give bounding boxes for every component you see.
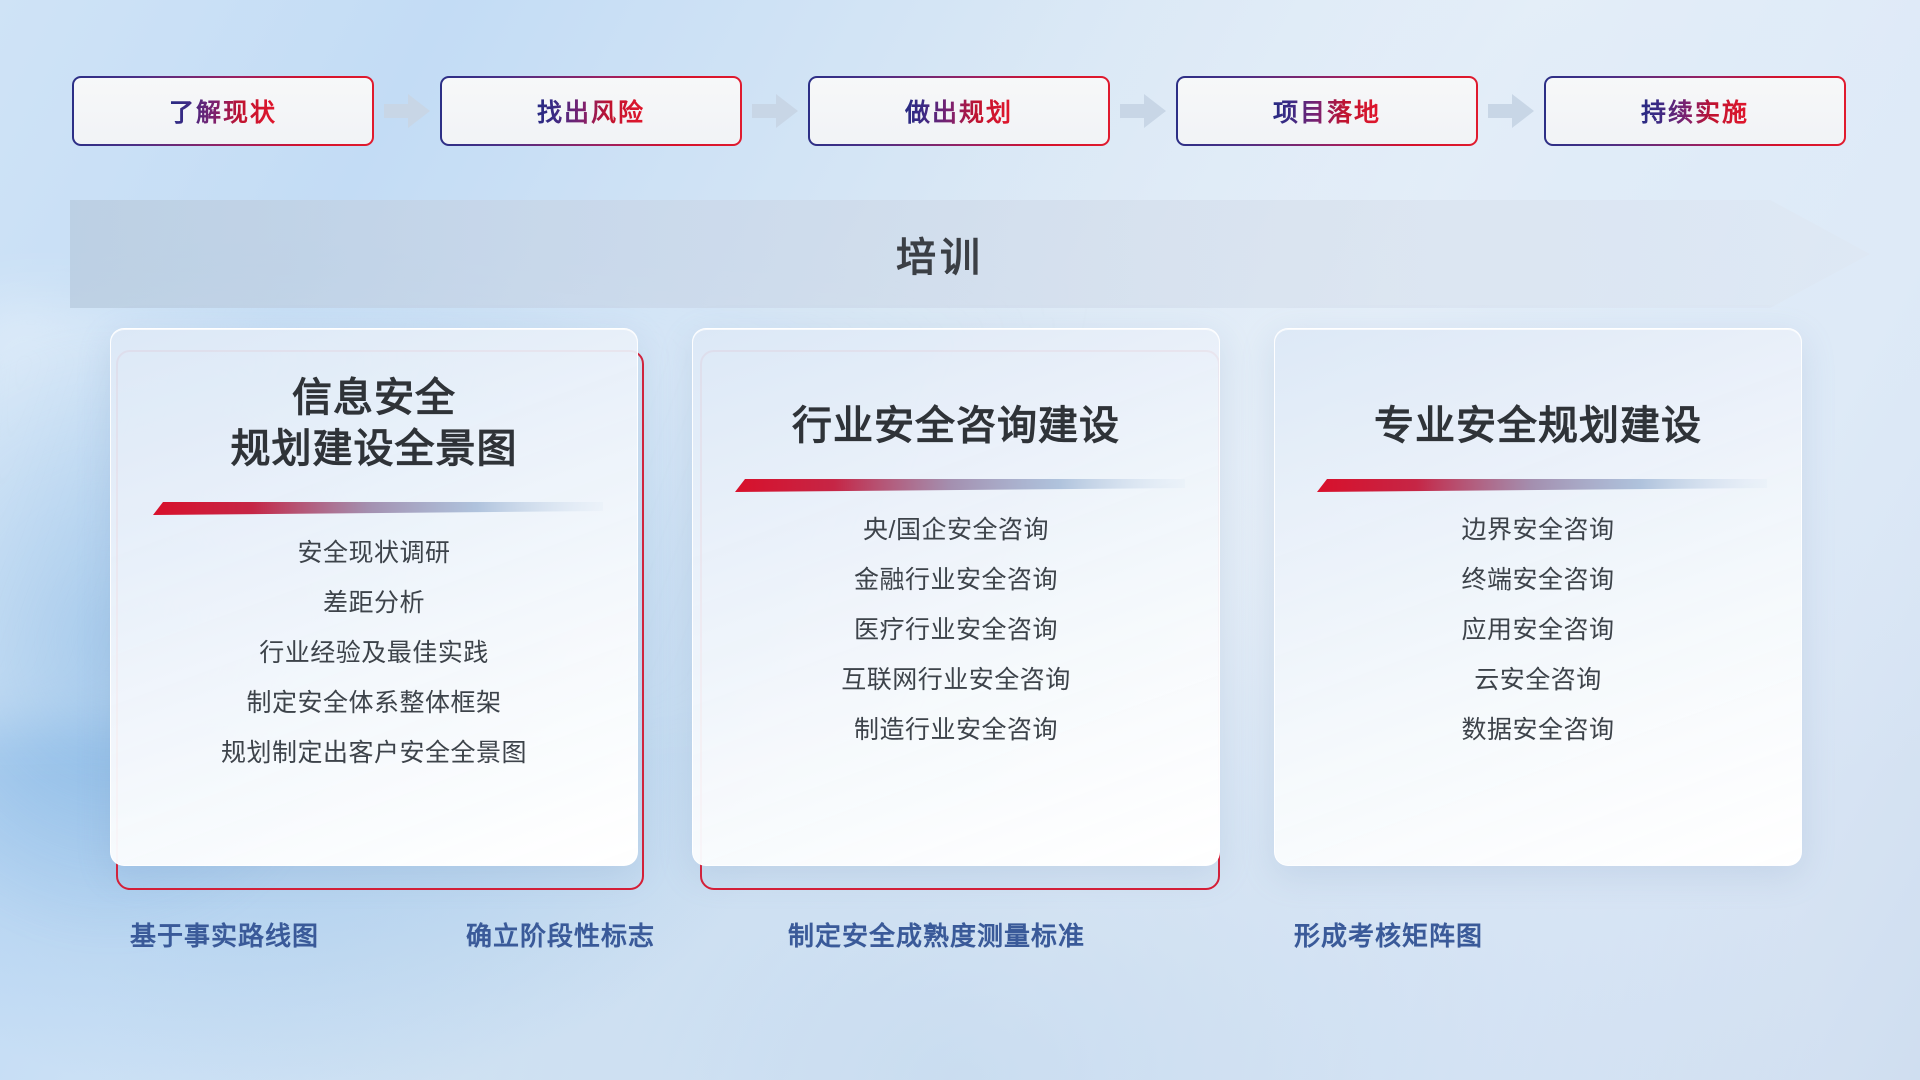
card-title: 信息安全 规划建设全景图 bbox=[231, 373, 518, 475]
card-item-list: 安全现状调研 差距分析 行业经验及最佳实践 制定安全体系整体框架 规划制定出客户… bbox=[111, 541, 637, 791]
slide-canvas: 了解现状 找出风险 做出规划 项目落地 bbox=[0, 0, 1920, 1080]
step-label: 了解现状 bbox=[169, 93, 277, 129]
list-item: 互联网行业安全咨询 bbox=[841, 668, 1071, 693]
card-title: 行业安全咨询建设 bbox=[792, 401, 1120, 452]
card-divider bbox=[727, 478, 1185, 492]
card-industry-security-consulting[interactable]: 行业安全咨询建设 bbox=[692, 328, 1220, 866]
training-banner: 培训 bbox=[70, 200, 1870, 308]
card-wrapper: 行业安全咨询建设 bbox=[692, 328, 1232, 868]
step-box-1[interactable]: 了解现状 bbox=[72, 76, 374, 146]
list-item: 央/国企安全咨询 bbox=[863, 518, 1049, 543]
arrow-right-icon bbox=[742, 76, 808, 146]
step-box-4[interactable]: 项目落地 bbox=[1176, 76, 1478, 146]
list-item: 行业经验及最佳实践 bbox=[259, 641, 489, 666]
card-item-list: 边界安全咨询 终端安全咨询 应用安全咨询 云安全咨询 数据安全咨询 bbox=[1275, 518, 1801, 768]
list-item: 应用安全咨询 bbox=[1461, 618, 1614, 643]
list-item: 制造行业安全咨询 bbox=[854, 718, 1058, 743]
step-box-5[interactable]: 持续实施 bbox=[1544, 76, 1846, 146]
list-item: 规划制定出客户安全全景图 bbox=[221, 741, 527, 766]
list-item: 安全现状调研 bbox=[297, 541, 450, 566]
card-divider bbox=[1309, 478, 1767, 492]
card-group: 信息安全 规划建设全景图 bbox=[0, 328, 1920, 888]
list-item: 边界安全咨询 bbox=[1461, 518, 1614, 543]
step-label: 找出风险 bbox=[537, 93, 645, 129]
step-box-3[interactable]: 做出规划 bbox=[808, 76, 1110, 146]
process-step-row: 了解现状 找出风险 做出规划 项目落地 bbox=[0, 76, 1920, 146]
card-professional-security-planning[interactable]: 专业安全规划建设 bbox=[1274, 328, 1802, 866]
step-label: 项目落地 bbox=[1273, 93, 1381, 129]
bottom-label-matrix: 形成考核矩阵图 bbox=[1294, 916, 1483, 953]
arrow-right-icon bbox=[1478, 76, 1544, 146]
card-divider bbox=[145, 501, 603, 515]
bottom-label-maturity: 制定安全成熟度测量标准 bbox=[788, 916, 1085, 953]
list-item: 制定安全体系整体框架 bbox=[246, 691, 501, 716]
bottom-label-roadmap: 基于事实路线图 bbox=[130, 916, 319, 953]
list-item: 云安全咨询 bbox=[1474, 668, 1602, 693]
arrow-right-icon bbox=[374, 76, 440, 146]
step-label: 持续实施 bbox=[1641, 93, 1749, 129]
list-item: 差距分析 bbox=[323, 591, 425, 616]
card-title: 专业安全规划建设 bbox=[1374, 401, 1702, 452]
step-box-2[interactable]: 找出风险 bbox=[440, 76, 742, 146]
card-item-list: 央/国企安全咨询 金融行业安全咨询 医疗行业安全咨询 互联网行业安全咨询 制造行… bbox=[693, 518, 1219, 768]
list-item: 终端安全咨询 bbox=[1461, 568, 1614, 593]
arrow-right-icon bbox=[1110, 76, 1176, 146]
card-wrapper: 信息安全 规划建设全景图 bbox=[110, 328, 650, 868]
list-item: 金融行业安全咨询 bbox=[854, 568, 1058, 593]
bottom-label-milestone: 确立阶段性标志 bbox=[466, 916, 655, 953]
card-information-security-blueprint[interactable]: 信息安全 规划建设全景图 bbox=[110, 328, 638, 866]
list-item: 数据安全咨询 bbox=[1461, 718, 1614, 743]
step-label: 做出规划 bbox=[905, 93, 1013, 129]
list-item: 医疗行业安全咨询 bbox=[854, 618, 1058, 643]
card-wrapper: 专业安全规划建设 bbox=[1274, 328, 1814, 868]
bottom-label-row: 基于事实路线图 确立阶段性标志 制定安全成熟度测量标准 形成考核矩阵图 bbox=[0, 916, 1920, 966]
banner-title: 培训 bbox=[70, 200, 1810, 308]
